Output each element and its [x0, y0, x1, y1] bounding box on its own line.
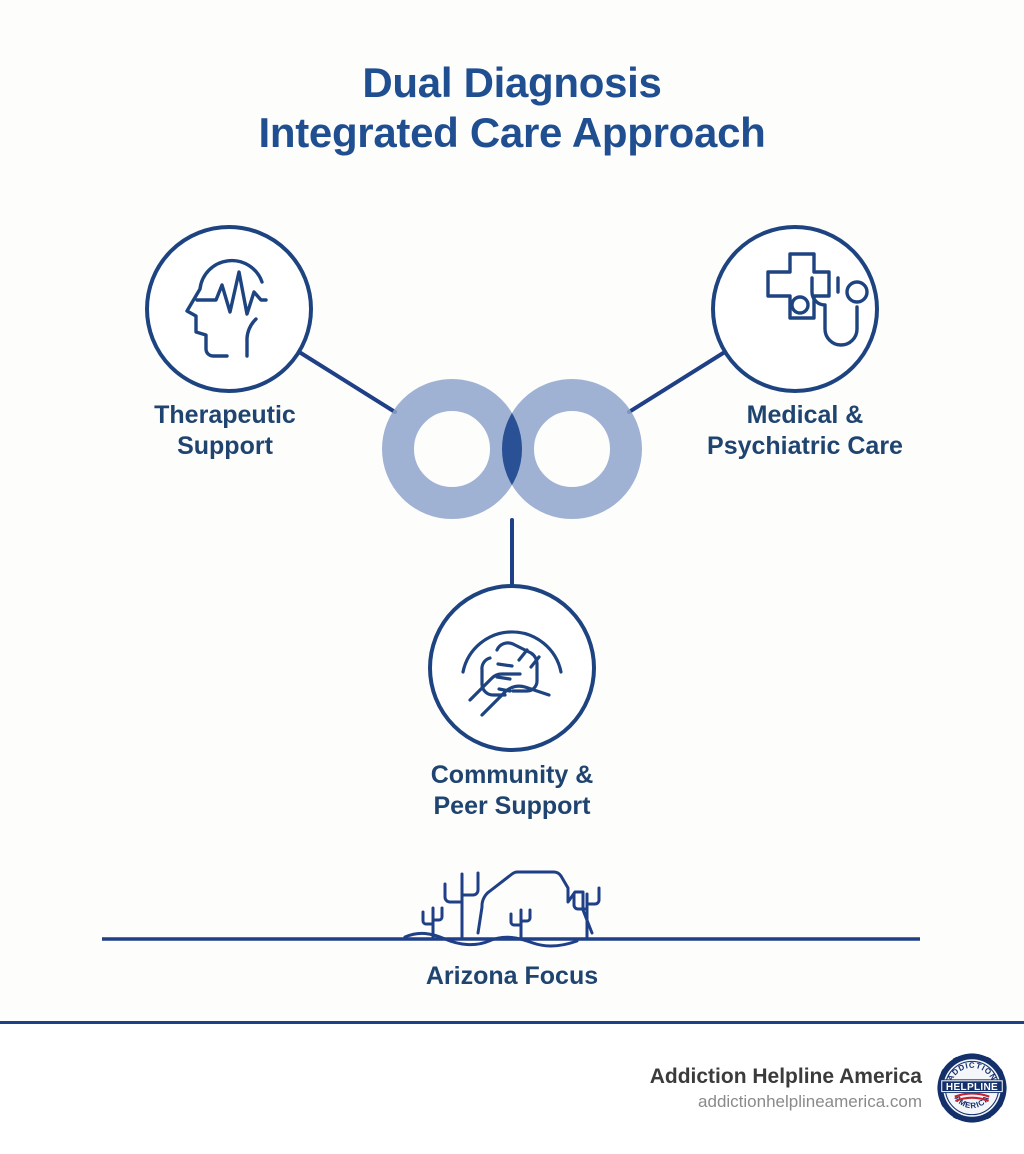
- label-community-line-1: Community &: [431, 761, 594, 789]
- label-medical-line-2: Psychiatric Care: [707, 432, 903, 460]
- venn-ring-right: [518, 395, 626, 503]
- footer-brand-name: Addiction Helpline America: [650, 1064, 922, 1090]
- desert-cactus-mesa-icon: [405, 872, 599, 946]
- footer-text-block: Addiction Helpline America addictionhelp…: [650, 1064, 922, 1113]
- footer-content: Addiction Helpline America addictionhelp…: [650, 1052, 1008, 1124]
- venn-ring-left: [398, 395, 506, 503]
- label-therapeutic-support: Therapeutic Support: [60, 400, 390, 462]
- overlapping-rings-venn: [398, 395, 626, 503]
- svg-text:HELPLINE: HELPLINE: [946, 1082, 998, 1093]
- label-therapeutic-line-1: Therapeutic: [154, 401, 296, 429]
- footer-website-url[interactable]: addictionhelplineamerica.com: [650, 1090, 922, 1113]
- helpline-seal-logo: ADDICTION AMERICA HELPLINE: [936, 1052, 1008, 1124]
- label-arizona-focus: Arizona Focus: [347, 961, 677, 992]
- diagram-canvas: Dual Diagnosis Integrated Care Approach: [0, 0, 1024, 1030]
- footer: Addiction Helpline America addictionhelp…: [0, 1024, 1024, 1154]
- label-community-line-2: Peer Support: [434, 792, 591, 820]
- node-community-peer-support[interactable]: [430, 586, 594, 750]
- label-therapeutic-line-2: Support: [177, 432, 273, 460]
- node-therapeutic-support[interactable]: [147, 227, 311, 391]
- label-community-peer-support: Community & Peer Support: [347, 760, 677, 822]
- node-circle-community: [430, 586, 594, 750]
- label-medical-psychiatric-care: Medical & Psychiatric Care: [640, 400, 970, 462]
- node-medical-psychiatric-care[interactable]: [713, 227, 877, 391]
- label-medical-line-1: Medical &: [747, 401, 864, 429]
- infographic-page: Dual Diagnosis Integrated Care Approach: [0, 0, 1024, 1154]
- seal-banner: HELPLINE: [940, 1079, 1003, 1093]
- diagram-graphics: [0, 0, 1024, 1030]
